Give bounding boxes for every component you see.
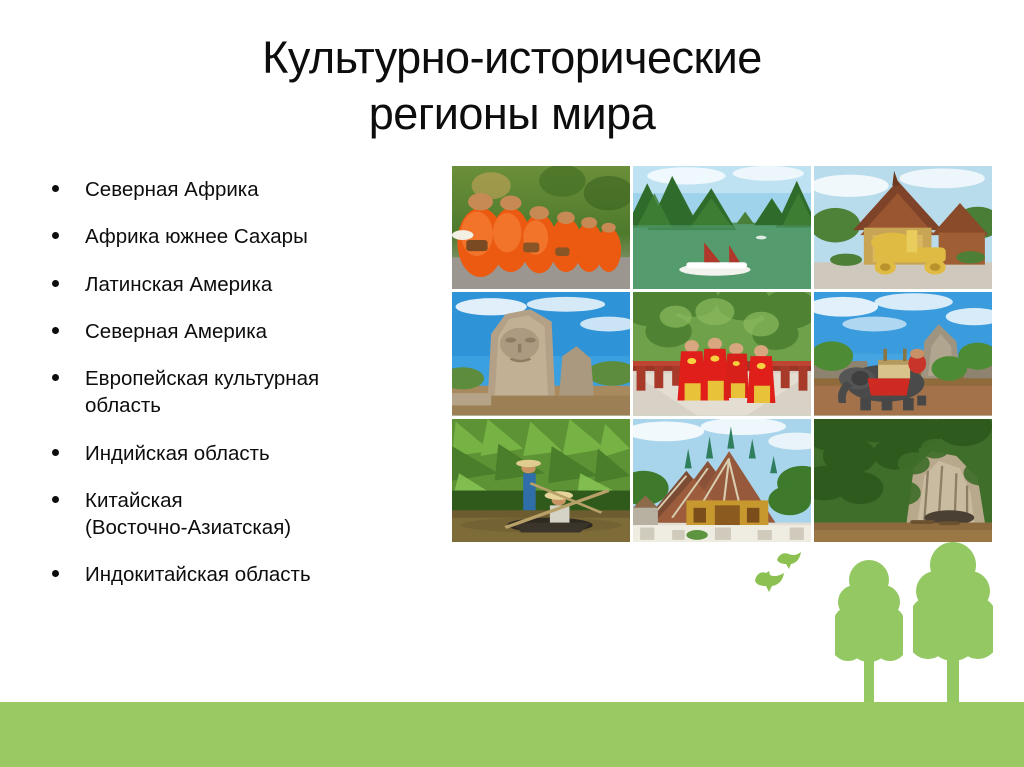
bullet-dot-icon <box>52 185 59 192</box>
photo-mekong-delta-boat <box>452 419 630 542</box>
list-item: Африка южнее Сахары <box>52 223 427 250</box>
bullet-dot-icon <box>52 449 59 456</box>
list-item: Китайская (Восточно-Азиатская) <box>52 487 427 542</box>
list-item: Индийская область <box>52 440 427 467</box>
photo-buddhist-monks-alms <box>452 166 630 289</box>
list-item-label: Африка южнее Сахары <box>85 223 308 250</box>
photo-elephant-ride-angkor <box>814 292 992 415</box>
bird-lower <box>753 571 786 593</box>
list-item: Северная Америка <box>52 318 427 345</box>
page-title-line-2: регионы мира <box>110 86 914 142</box>
bullet-dot-icon <box>52 232 59 239</box>
list-item-label: Латинская Америка <box>85 271 272 298</box>
bullet-dot-icon <box>52 374 59 381</box>
photo-bayon-face-tower <box>452 292 630 415</box>
tree-left <box>835 558 903 706</box>
photo-mekong-limestone-cliff <box>814 419 992 542</box>
list-item: Индокитайская область <box>52 561 427 588</box>
slide-root: Культурно-исторические регионы мира Севе… <box>0 0 1024 767</box>
photo-golden-temple-cart <box>814 166 992 289</box>
bullet-dot-icon <box>52 327 59 334</box>
list-item: Северная Африка <box>52 176 427 203</box>
page-title-line-1: Культурно-исторические <box>110 30 914 86</box>
photo-women-red-aodai-bridge <box>633 292 811 415</box>
list-item-label: Китайская (Восточно-Азиатская) <box>85 487 291 542</box>
bullet-dot-icon <box>52 570 59 577</box>
tree-right <box>913 541 993 706</box>
footer-green-bar <box>0 702 1024 767</box>
list-item-label: Индийская область <box>85 440 270 467</box>
bird-upper <box>775 551 805 571</box>
photo-collage <box>452 166 992 542</box>
list-item: Европейская культурная область <box>52 365 427 420</box>
photo-wat-xieng-thong <box>633 419 811 542</box>
list-item-label: Северная Америка <box>85 318 267 345</box>
list-item-label: Европейская культурная область <box>85 365 319 420</box>
list-item: Латинская Америка <box>52 271 427 298</box>
region-list: Северная Африка Африка южнее Сахары Лати… <box>52 176 427 609</box>
photo-halong-bay-junk-boat <box>633 166 811 289</box>
list-item-label: Индокитайская область <box>85 561 311 588</box>
list-item-label: Северная Африка <box>85 176 259 203</box>
page-title: Культурно-исторические регионы мира <box>110 30 914 143</box>
bullet-dot-icon <box>52 280 59 287</box>
bullet-dot-icon <box>52 496 59 503</box>
